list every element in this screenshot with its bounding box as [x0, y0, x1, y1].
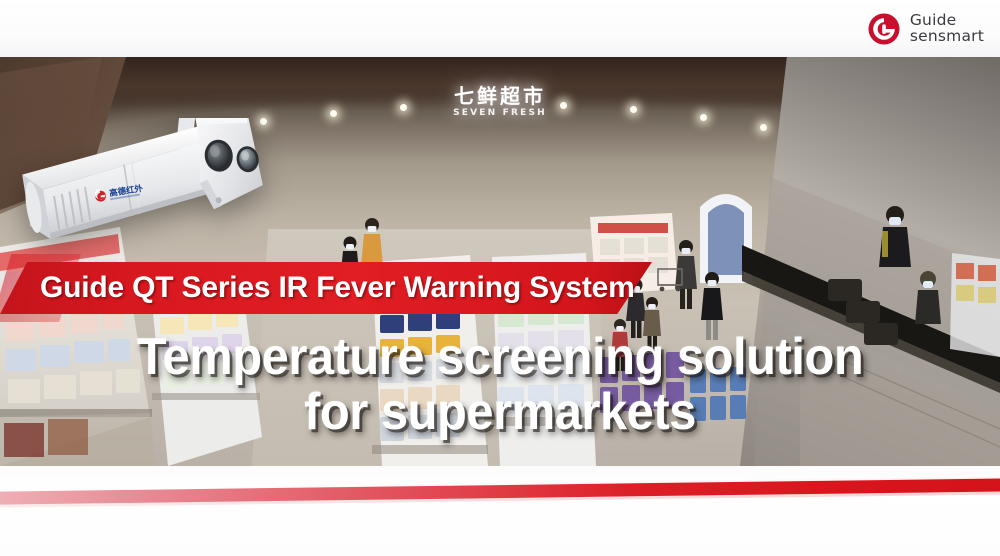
headline-line-2: for supermarkets: [30, 387, 970, 438]
guide-g-logo-icon: [867, 12, 901, 46]
ir-thermal-camera: 高德红外: [10, 118, 265, 248]
page-title: Temperature screening solution for super…: [30, 332, 970, 438]
brand-line-2: sensmart: [910, 29, 984, 45]
brand-logo: Guide sensmart: [867, 8, 984, 50]
banner-label: Guide QT Series IR Fever Warning System: [40, 262, 635, 314]
product-banner: Guide QT Series IR Fever Warning System: [0, 262, 645, 314]
brand-wordmark: Guide sensmart: [910, 13, 984, 45]
headline-line-1: Temperature screening solution: [30, 332, 970, 383]
slide-root: 七鲜超市 SEVEN FRESH: [0, 0, 1000, 556]
header-band: [0, 0, 1000, 57]
footer-band: [0, 466, 1000, 556]
